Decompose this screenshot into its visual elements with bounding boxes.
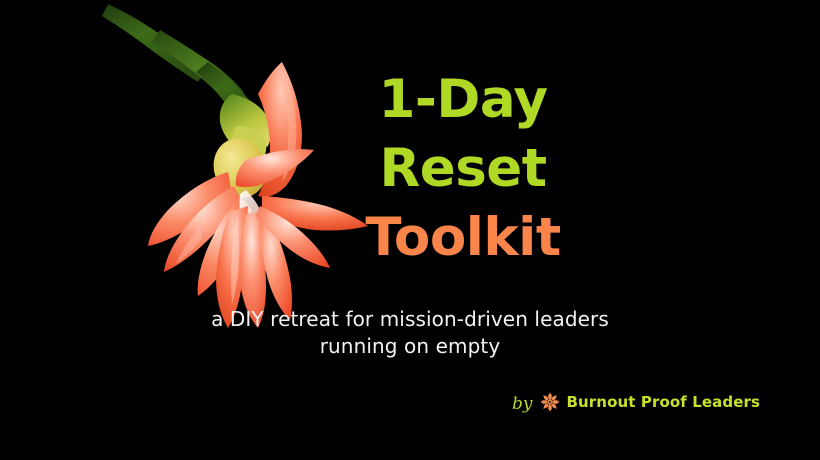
poster-canvas: 1-Day Reset Toolkit a DIY retreat for mi… <box>0 0 820 460</box>
subtitle-line-2: running on empty <box>160 333 660 360</box>
page-title: 1-Day Reset Toolkit <box>330 66 596 273</box>
title-line-1: 1-Day <box>330 66 596 135</box>
subtitle: a DIY retreat for mission-driven leaders… <box>160 306 660 360</box>
brand-by-label: by <box>512 396 533 413</box>
christmas-cactus-flower-photo <box>0 0 380 330</box>
brand-name: Burnout Proof Leaders <box>567 393 761 411</box>
title-line-3: Toolkit <box>330 204 596 273</box>
title-line-2: Reset <box>330 135 596 204</box>
subtitle-line-1: a DIY retreat for mission-driven leaders <box>160 306 660 333</box>
brand-lockup: by <box>512 386 760 418</box>
rosette-flower-icon <box>539 391 561 413</box>
